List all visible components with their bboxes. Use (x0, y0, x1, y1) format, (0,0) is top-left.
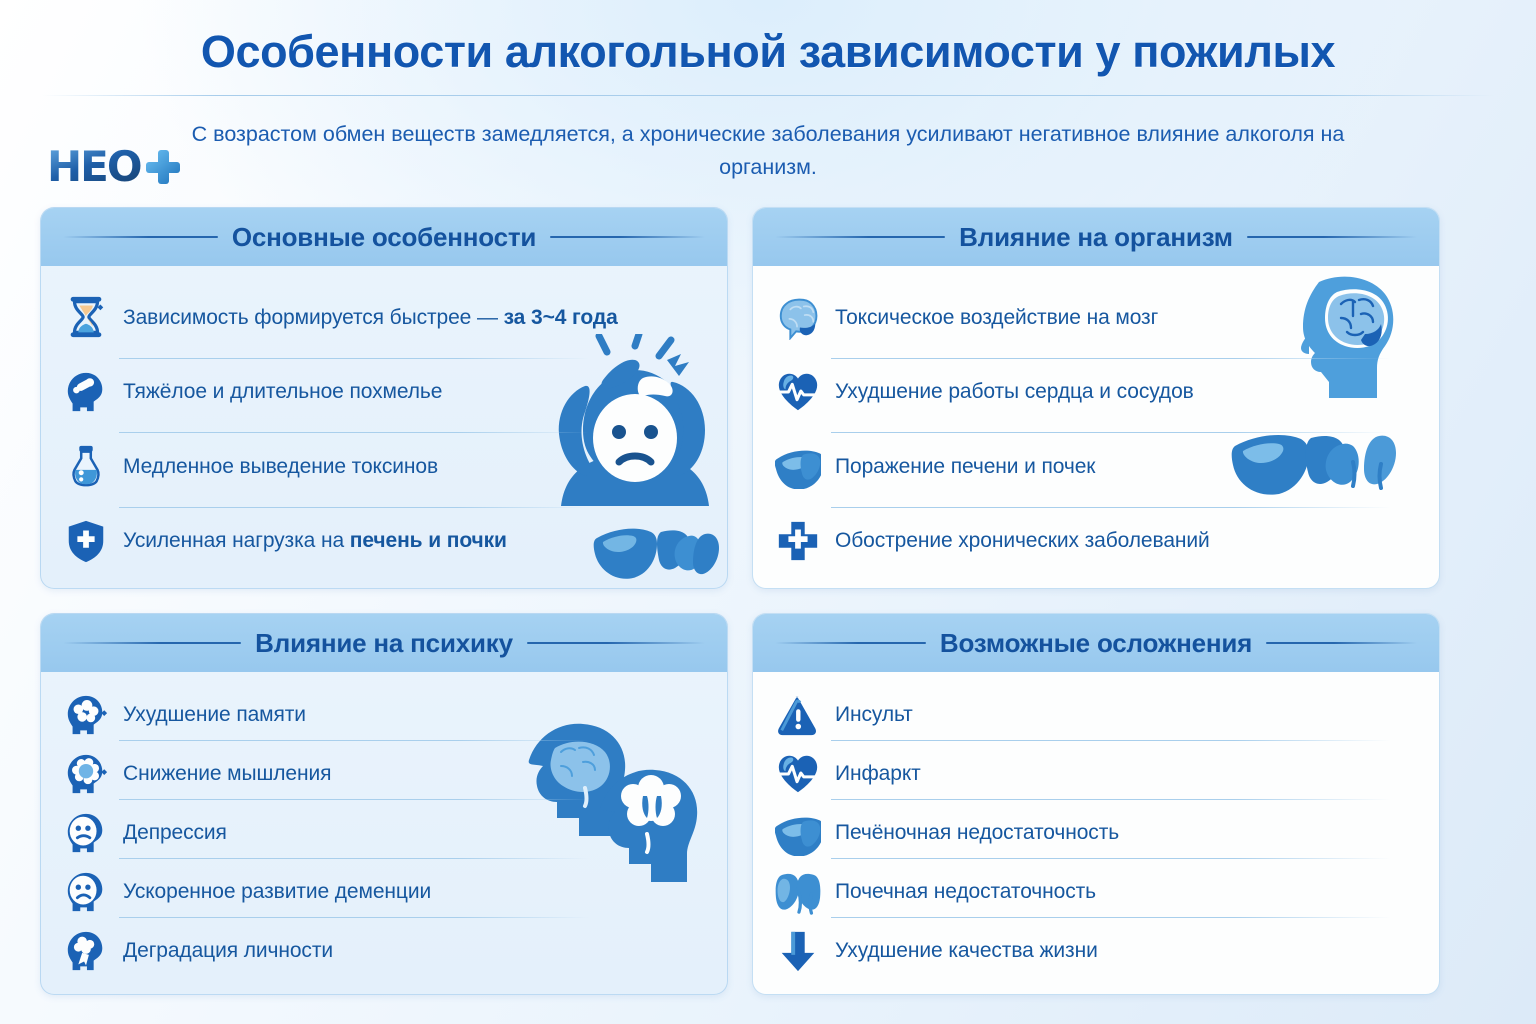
card-complications: Возможные осложнения Инсульт Ин (752, 613, 1440, 995)
list-item-label: Поражение печени и почек (835, 454, 1095, 479)
flask-icon (63, 443, 109, 489)
list-item: Ухудшение качества жизни (775, 924, 1417, 978)
head-sad-face-icon (63, 810, 109, 856)
list-item-label: Токсическое воздействие на мозг (835, 305, 1158, 330)
list-item: Медленное выведение токсинов (63, 439, 705, 493)
card-header: Влияние на организм (753, 208, 1439, 266)
header-rule-right (550, 236, 705, 238)
card-title: Основные особенности (232, 222, 536, 253)
liver-icon (775, 810, 821, 856)
list-item-label: Ускоренное развитие деменции (123, 879, 431, 904)
list-item: Инфаркт (775, 747, 1417, 801)
header-rule-left (63, 642, 241, 644)
card-title: Влияние на организм (959, 222, 1233, 253)
list-item-label: Медленное выведение токсинов (123, 454, 438, 479)
list-item: Ухудшение работы сердца и сосудов (775, 365, 1417, 419)
logo-text: HEO (47, 146, 141, 188)
page-subtitle: С возрастом обмен веществ замедляется, а… (178, 118, 1358, 183)
card-title: Возможные осложнения (940, 628, 1252, 659)
list-item-label: Инфаркт (835, 761, 921, 786)
card-grid: Основные особенности (40, 207, 1496, 995)
list-item-label: Почечная недостаточность (835, 879, 1096, 904)
header-rule-right (1247, 236, 1417, 238)
list-item: Печёночная недостаточность (775, 806, 1417, 860)
brain-icon (775, 294, 821, 340)
medical-cross-icon (775, 518, 821, 564)
header-rule-left (63, 236, 218, 238)
list-item-label: Деградация личности (123, 938, 333, 963)
heart-pulse-icon (775, 369, 821, 415)
list-item: Деградация личности (63, 924, 705, 978)
card-body: Зависимость формируется быстрее — за 3~4… (41, 266, 727, 588)
heart-pulse-icon (775, 751, 821, 797)
header-rule-right (1266, 642, 1417, 644)
list-item: Ускоренное развитие деменции (63, 865, 705, 919)
list-item-label: Снижение мышления (123, 761, 331, 786)
card-psyche-impact: Влияние на психику (40, 613, 728, 995)
list-item-label: Зависимость формируется быстрее — за 3~4… (123, 305, 618, 330)
list-item: Обострение хронических заболеваний (775, 514, 1417, 568)
card-header: Влияние на психику (41, 614, 727, 672)
head-thinking-icon (63, 751, 109, 797)
card-body-impact: Влияние на организм (752, 207, 1440, 589)
head-dementia-icon (63, 869, 109, 915)
card-title: Влияние на психику (255, 628, 513, 659)
liver-icon (775, 443, 821, 489)
list-item-label: Обострение хронических заболеваний (835, 528, 1210, 553)
list-item: Усиленная нагрузка на печень и почки (63, 514, 705, 568)
list-item: Поражение печени и почек (775, 439, 1417, 493)
list-item-label: Инсульт (835, 702, 913, 727)
list-item-label: Тяжёлое и длительное похмелье (123, 379, 442, 404)
list-item: Зависимость формируется быстрее — за 3~4… (63, 290, 705, 344)
list-item-label: Ухудшение памяти (123, 702, 306, 727)
head-memory-icon (63, 692, 109, 738)
hourglass-icon (63, 294, 109, 340)
list-item-label: Ухудшение качества жизни (835, 938, 1098, 963)
list-item: Токсическое воздействие на мозг (775, 290, 1417, 344)
list-item: Депрессия (63, 806, 705, 860)
page-title: Особенности алкогольной зависимости у по… (0, 0, 1536, 75)
card-body: Инсульт Инфаркт Печёночная недостаточнос… (753, 672, 1439, 994)
header-rule-left (775, 236, 945, 238)
warning-triangle-icon (775, 692, 821, 738)
header-rule-left (775, 642, 926, 644)
list-item: Тяжёлое и длительное похмелье (63, 365, 705, 419)
card-header: Возможные осложнения (753, 614, 1439, 672)
brand-logo: HEO (47, 146, 180, 188)
list-item: Почечная недостаточность (775, 865, 1417, 919)
list-item: Снижение мышления (63, 747, 705, 801)
card-header: Основные особенности (41, 208, 727, 266)
shield-cross-icon (63, 518, 109, 564)
card-body: Токсическое воздействие на мозг Ухудшени… (753, 266, 1439, 588)
list-item-label: Усиленная нагрузка на печень и почки (123, 528, 507, 553)
list-item: Ухудшение памяти (63, 688, 705, 742)
head-degradation-icon (63, 928, 109, 974)
list-item-label: Депрессия (123, 820, 227, 845)
card-main-features: Основные особенности (40, 207, 728, 589)
header-rule-right (527, 642, 705, 644)
list-item-label: Печёночная недостаточность (835, 820, 1119, 845)
card-body: Ухудшение памяти Снижение мышления (41, 672, 727, 994)
list-item-label: Ухудшение работы сердца и сосудов (835, 379, 1194, 404)
list-item: Инсульт (775, 688, 1417, 742)
kidneys-icon (775, 869, 821, 915)
head-pills-icon (63, 369, 109, 415)
title-divider (42, 95, 1494, 96)
plus-icon (146, 150, 180, 184)
down-arrow-icon (775, 928, 821, 974)
